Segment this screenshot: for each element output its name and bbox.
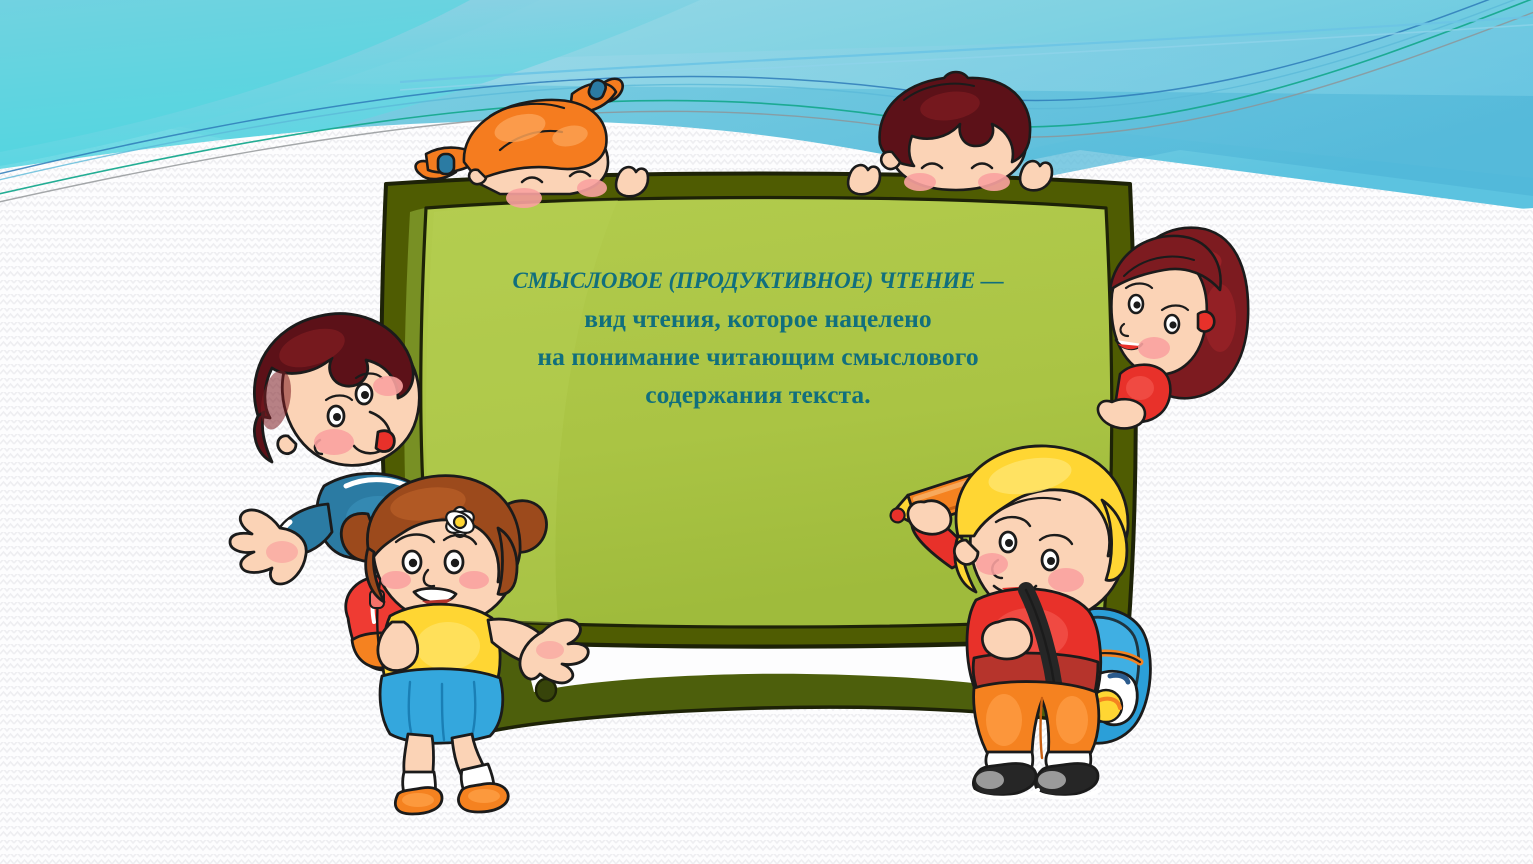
figure-girl-with-backpack — [330, 470, 590, 815]
figure-girl-red-hair — [1102, 218, 1252, 448]
figure-boy-blond-with-pencil — [880, 440, 1190, 805]
figure-boy-dark-hair-peeking — [846, 66, 1066, 206]
figure-girl-orange-pigtails — [404, 58, 644, 208]
slide-canvas: СМЫСЛОВОЕ (ПРОДУКТИВНОЕ) ЧТЕНИЕ — вид чт… — [0, 0, 1533, 864]
